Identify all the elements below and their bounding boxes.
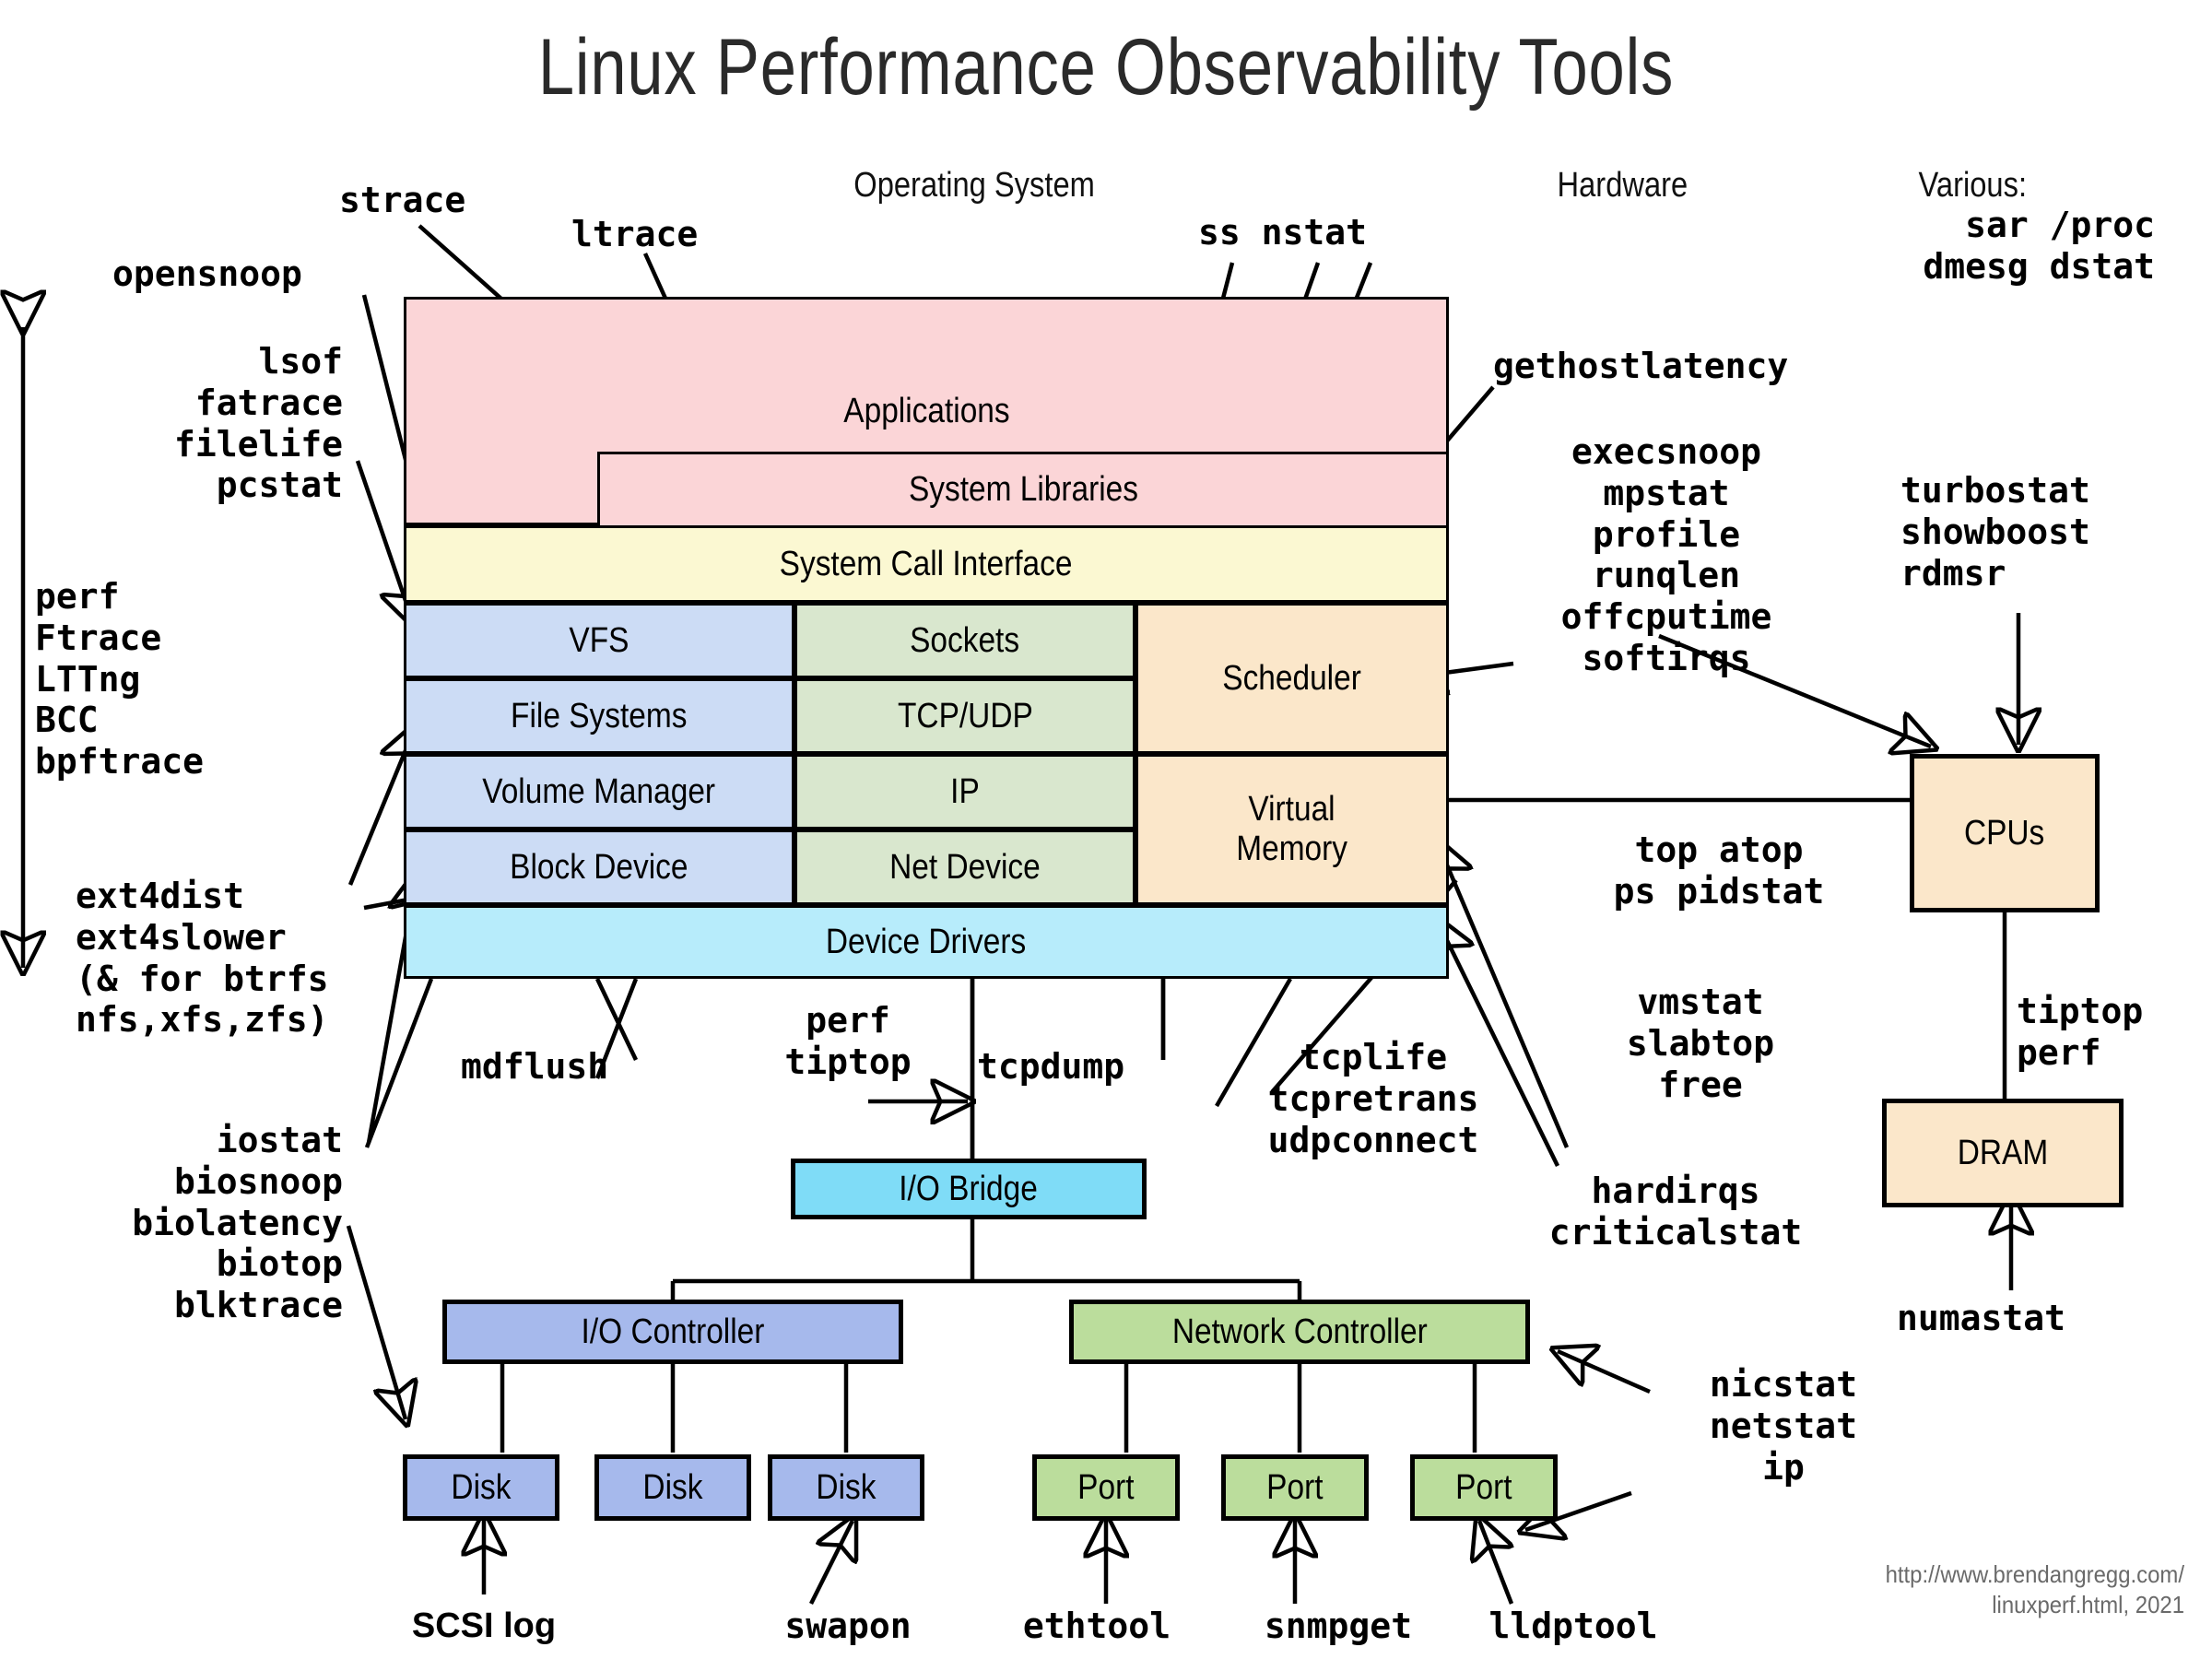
stack-label-volume-manager: Volume Manager	[483, 772, 716, 812]
page-title: Linux Performance Observability Tools	[199, 22, 2013, 113]
tool-label-ext4-group: ext4dist ext4slower (& for btrfs nfs,xfs…	[76, 876, 329, 1041]
tool-label-opensnoop: opensnoop	[112, 253, 302, 295]
tool-label-ethtool: ethtool	[977, 1606, 1217, 1647]
hardware-box-network-controller[interactable]: Network Controller	[1069, 1300, 1530, 1364]
hardware-label-port-1: Port	[1077, 1468, 1134, 1508]
stack-box-sockets[interactable]: Sockets	[794, 603, 1135, 678]
stack-box-volume-manager[interactable]: Volume Manager	[404, 754, 794, 829]
tool-label-scsi-log: SCSI log	[369, 1606, 599, 1647]
tool-label-top-group: top atop ps pidstat	[1521, 829, 1917, 912]
stack-box-virtual-memory[interactable]: Virtual Memory	[1135, 754, 1449, 905]
hardware-box-dram[interactable]: DRAM	[1882, 1099, 2124, 1207]
tool-label-perf-tiptop: perf tiptop	[728, 1000, 968, 1083]
hardware-box-disk-1[interactable]: Disk	[403, 1454, 559, 1521]
footer-credit: http://www.brendangregg.com/ linuxperf.h…	[1641, 1559, 2184, 1619]
tool-label-vmstat-group: vmstat slabtop free	[1548, 982, 1853, 1105]
footer-source: linuxperf.html, 2021	[1641, 1590, 2184, 1620]
footer-url: http://www.brendangregg.com/	[1641, 1559, 2184, 1590]
hardware-label-port-2: Port	[1266, 1468, 1323, 1508]
stack-label-system-call-interface: System Call Interface	[780, 545, 1073, 584]
hardware-box-port-2[interactable]: Port	[1221, 1454, 1369, 1521]
tool-label-io-group: iostat biosnoop biolatency biotop blktra…	[0, 1120, 343, 1326]
stack-label-ip: IP	[950, 772, 980, 812]
tool-label-cpu-group: execsnoop mpstat profile runqlen offcput…	[1473, 431, 1860, 679]
tool-label-snmpget: snmpget	[1209, 1606, 1467, 1647]
stack-box-scheduler[interactable]: Scheduler	[1135, 603, 1449, 754]
tool-label-swapon: swapon	[728, 1606, 968, 1647]
tool-label-nicstat-group: nicstat netstat ip	[1631, 1364, 1935, 1488]
tool-label-gethostlatency: gethostlatency	[1493, 346, 1788, 387]
stack-label-virtual-memory-line1: Virtual	[1249, 790, 1335, 829]
hardware-box-disk-3[interactable]: Disk	[768, 1454, 924, 1521]
hardware-label-io-bridge: I/O Bridge	[900, 1170, 1039, 1209]
tool-label-hardirqs-group: hardirqs criticalstat	[1473, 1171, 1878, 1253]
tool-label-tcpdump: tcpdump	[977, 1046, 1124, 1088]
stack-label-tcp-udp: TCP/UDP	[898, 697, 1033, 736]
tool-label-turbostat-group: turbostat showboost rdmsr	[1900, 470, 2090, 594]
stack-box-vfs[interactable]: VFS	[404, 603, 794, 678]
stack-label-applications: Applications	[843, 392, 1009, 431]
tool-label-ltrace: ltrace	[571, 214, 698, 255]
stack-box-net-device[interactable]: Net Device	[794, 829, 1135, 905]
hardware-label-disk-2: Disk	[642, 1468, 702, 1508]
tool-label-tracers-group: perf Ftrace LTTng BCC bpftrace	[35, 576, 204, 782]
hardware-label-disk-3: Disk	[816, 1468, 876, 1508]
hardware-box-cpus[interactable]: CPUs	[1910, 754, 2100, 912]
stack-label-scheduler: Scheduler	[1223, 659, 1362, 699]
hardware-label-dram: DRAM	[1958, 1134, 2048, 1173]
hardware-label-network-controller: Network Controller	[1172, 1312, 1428, 1352]
stack-label-vfs: VFS	[569, 621, 629, 661]
tool-label-file-group: lsof fatrace filelife pcstat	[0, 341, 343, 506]
tool-label-tcplife-group: tcplife tcpretrans udpconnect	[1217, 1037, 1530, 1160]
section-heading-various: Various:	[1919, 166, 2027, 206]
tool-label-tiptop-perf: tiptop perf	[2017, 991, 2143, 1074]
hardware-label-port-3: Port	[1455, 1468, 1512, 1508]
tool-label-strace: strace	[339, 180, 465, 221]
tool-label-various-group: sar /proc dmesg dstat	[1768, 205, 2155, 288]
stack-label-sockets: Sockets	[911, 621, 1020, 661]
stack-box-system-libraries[interactable]: System Libraries	[597, 452, 1449, 525]
stack-label-net-device: Net Device	[889, 848, 1041, 888]
stack-box-device-drivers[interactable]: Device Drivers	[404, 905, 1449, 979]
diagram-canvas: Linux Performance Observability Tools Op…	[0, 0, 2212, 1659]
stack-label-device-drivers: Device Drivers	[826, 923, 1026, 962]
hardware-label-io-controller: I/O Controller	[582, 1312, 765, 1352]
stack-box-system-call-interface[interactable]: System Call Interface	[404, 525, 1449, 603]
tool-label-mdflush: mdflush	[461, 1046, 608, 1088]
stack-box-ip[interactable]: IP	[794, 754, 1135, 829]
hardware-box-io-bridge[interactable]: I/O Bridge	[791, 1159, 1147, 1219]
stack-box-tcp-udp[interactable]: TCP/UDP	[794, 678, 1135, 754]
hardware-box-port-3[interactable]: Port	[1410, 1454, 1558, 1521]
hardware-label-cpus: CPUs	[1964, 814, 2044, 853]
hardware-label-disk-1: Disk	[451, 1468, 511, 1508]
stack-label-system-libraries: System Libraries	[908, 470, 1137, 510]
hardware-box-port-1[interactable]: Port	[1032, 1454, 1180, 1521]
stack-box-file-systems[interactable]: File Systems	[404, 678, 794, 754]
stack-label-virtual-memory-line2: Memory	[1237, 829, 1348, 869]
hardware-box-io-controller[interactable]: I/O Controller	[442, 1300, 903, 1364]
tool-label-ss-nstat: ss nstat	[1198, 212, 1367, 253]
section-heading-hardware: Hardware	[1558, 166, 1688, 206]
section-heading-operating-system: Operating System	[853, 166, 1095, 206]
stack-label-block-device: Block Device	[510, 848, 688, 888]
tool-label-numastat: numastat	[1897, 1298, 2065, 1339]
stack-box-block-device[interactable]: Block Device	[404, 829, 794, 905]
stack-label-file-systems: File Systems	[511, 697, 687, 736]
hardware-box-disk-2[interactable]: Disk	[594, 1454, 751, 1521]
